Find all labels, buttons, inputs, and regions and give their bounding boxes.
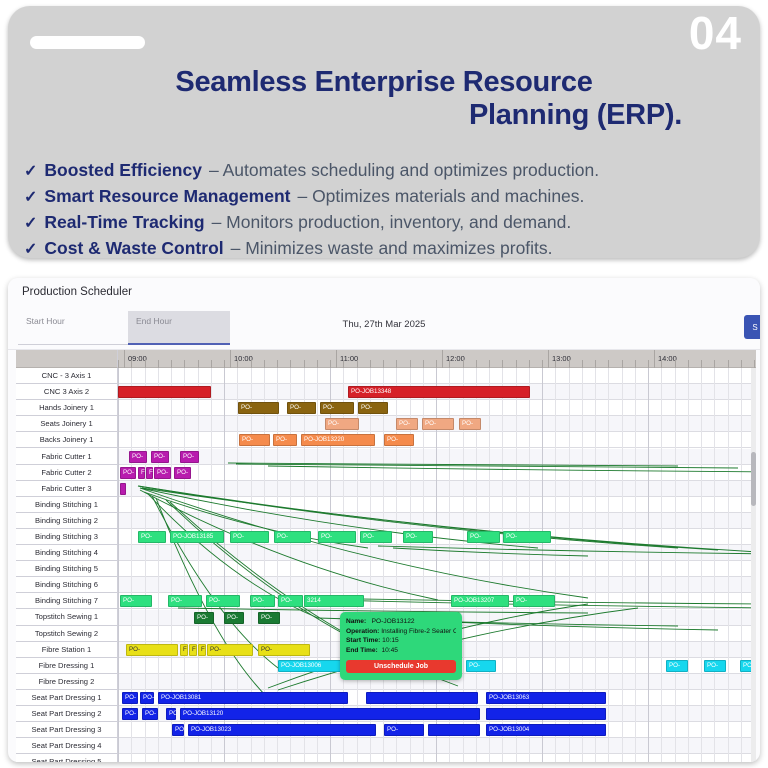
job-bar[interactable] — [120, 483, 126, 495]
tooltip-end-value: 10:45 — [381, 647, 398, 654]
resource-row-label: Topstitch Sewing 1 — [16, 609, 118, 625]
page-title: Seamless Enterprise Resource Planning (E… — [48, 66, 720, 133]
job-bar[interactable]: PO- — [503, 531, 551, 543]
job-bar[interactable]: PO- — [287, 402, 316, 414]
tooltip-operation-value: Installing Fibre-2 Seater C — [381, 628, 456, 635]
resource-row-label: Binding Stitching 5 — [16, 561, 118, 577]
bullet-text: – Automates scheduling and optimizes pro… — [209, 158, 599, 183]
job-bar[interactable]: PO- — [120, 467, 136, 479]
schedule-date-label: Thu, 27th Mar 2025 — [8, 319, 760, 330]
job-bar[interactable]: PO- — [194, 612, 214, 624]
job-bar[interactable]: PO- — [358, 402, 388, 414]
resource-row-label: Fabric Cutter 2 — [16, 465, 118, 481]
time-axis-header: 09:0010:0011:0012:0013:0014:004 — [118, 350, 756, 368]
resource-row-label: Fabric Cutter 1 — [16, 448, 118, 464]
production-scheduler-window: Production Scheduler Start Hour End Hour… — [8, 278, 760, 762]
job-bar[interactable]: PO- — [666, 660, 688, 672]
slide-root: 04 Seamless Enterprise Resource Planning… — [0, 0, 768, 768]
list-item: ✓ Real-Time Tracking – Monitors producti… — [24, 210, 760, 236]
list-item: ✓ Boosted Efficiency – Automates schedul… — [24, 158, 760, 184]
job-bar[interactable]: PO- — [142, 708, 158, 720]
job-bar[interactable]: PO- — [122, 692, 138, 704]
job-bar[interactable]: PO- — [273, 434, 297, 446]
job-bar[interactable]: PO- — [396, 418, 418, 430]
decorative-pill — [30, 36, 145, 49]
tooltip-start-value: 10:15 — [382, 637, 399, 644]
job-bar[interactable] — [118, 386, 211, 398]
resource-row-label: Topstitch Sewing 2 — [16, 626, 118, 642]
job-bar[interactable]: PO- — [230, 531, 269, 543]
resource-row-label: Binding Stitching 3 — [16, 529, 118, 545]
gantt-chart: CNC - 3 Axis 1CNC 3 Axis 2Hands Joinery … — [16, 350, 760, 762]
job-bar[interactable]: F — [189, 644, 197, 656]
job-bar[interactable]: PO — [172, 724, 184, 736]
resource-column-header — [16, 350, 118, 368]
job-bar[interactable]: PO-JOB13348 — [348, 386, 530, 398]
job-bar[interactable]: PO-JOB13081 — [158, 692, 348, 704]
scrollbar-thumb[interactable] — [751, 452, 756, 506]
promo-card: 04 Seamless Enterprise Resource Planning… — [8, 6, 760, 258]
resource-row-label: Seat Part Dressing 1 — [16, 690, 118, 706]
job-bar[interactable]: PO- — [151, 451, 169, 463]
job-bar[interactable]: PO- — [239, 434, 270, 446]
bullet-heading: Real-Time Tracking — [44, 210, 204, 235]
title-line-2: Planning (ERP). — [48, 99, 720, 132]
job-bar[interactable]: PO- — [403, 531, 433, 543]
job-bar[interactable]: PO- — [422, 418, 454, 430]
resource-row-label: Binding Stitching 7 — [16, 593, 118, 609]
resource-row-label: Hands Joinery 1 — [16, 400, 118, 416]
job-bar[interactable]: PO- — [466, 660, 496, 672]
gantt-timeline[interactable]: 09:0010:0011:0012:0013:0014:004 PO-JOB13… — [118, 350, 756, 762]
job-bar[interactable]: PO- — [238, 402, 279, 414]
job-bar[interactable]: F — [138, 467, 145, 479]
resource-row-label: Binding Stitching 4 — [16, 545, 118, 561]
resource-row-label: Binding Stitching 6 — [16, 577, 118, 593]
job-bar[interactable]: F — [146, 467, 153, 479]
job-bar[interactable]: PO- — [154, 467, 171, 479]
job-bar[interactable]: PO- — [174, 467, 191, 479]
list-item: ✓ Smart Resource Management – Optimizes … — [24, 184, 760, 210]
resource-row-label: Fibre Dressing 1 — [16, 658, 118, 674]
job-bar[interactable]: PO- — [122, 708, 138, 720]
job-bar[interactable]: PO-JOB13120 — [180, 708, 480, 720]
slide-number: 04 — [689, 10, 742, 56]
job-bar[interactable]: PO- — [129, 451, 147, 463]
resource-row-label: Fibre Station 1 — [16, 642, 118, 658]
list-item: ✓ Cost & Waste Control – Minimizes waste… — [24, 236, 760, 258]
resource-row-label: Binding Stitching 2 — [16, 513, 118, 529]
job-bar[interactable]: PO- — [320, 402, 354, 414]
job-bar[interactable]: PO- — [168, 595, 202, 607]
vertical-scrollbar[interactable] — [751, 368, 756, 762]
job-bar[interactable]: PO-JOB13220 — [301, 434, 375, 446]
check-icon: ✓ — [24, 237, 37, 258]
job-bar[interactable]: PO-JOB13207 — [451, 595, 509, 607]
tooltip-operation-row: Operation: Installing Fibre-2 Seater C — [346, 627, 456, 637]
job-bar[interactable]: PO- — [384, 724, 424, 736]
check-icon: ✓ — [24, 159, 37, 184]
minor-tick-marks — [118, 360, 756, 368]
resource-row-label: Seat Part Dressing 3 — [16, 722, 118, 738]
scheduler-toolbar: Start Hour End Hour Thu, 27th Mar 2025 S — [8, 306, 760, 350]
tooltip-name-row: Name: PO-JOB13122 — [346, 617, 456, 627]
job-tooltip[interactable]: Name: PO-JOB13122 Operation: Installing … — [340, 612, 462, 680]
job-bar[interactable]: PO- — [207, 644, 253, 656]
check-icon: ✓ — [24, 211, 37, 236]
job-bar[interactable]: PO- — [318, 531, 356, 543]
job-bar[interactable]: PO- — [126, 644, 178, 656]
job-bar[interactable]: F — [180, 644, 188, 656]
job-bar[interactable]: PO- — [278, 595, 303, 607]
resource-row-label: Backs Joinery 1 — [16, 432, 118, 448]
job-bar[interactable]: PO- — [206, 595, 240, 607]
resource-row-label: Fabric Cutter 3 — [16, 481, 118, 497]
resource-row-label: Seat Part Dressing 5 — [16, 754, 118, 762]
job-bar[interactable] — [486, 708, 606, 720]
tooltip-start-label: Start Time: — [346, 637, 380, 644]
job-bar[interactable]: PO- — [180, 451, 199, 463]
job-bar[interactable]: PO- — [140, 692, 154, 704]
job-bar[interactable]: PO-JOB13004 — [486, 724, 606, 736]
job-bar[interactable]: PO- — [459, 418, 481, 430]
resource-row-label: CNC 3 Axis 2 — [16, 384, 118, 400]
tooltip-name-value: PO-JOB13122 — [372, 618, 415, 625]
feature-list: ✓ Boosted Efficiency – Automates schedul… — [24, 158, 760, 258]
job-bar[interactable]: PO- — [274, 531, 311, 543]
bullet-text: – Minimizes waste and maximizes profits. — [231, 236, 553, 258]
job-bar[interactable]: PO- — [250, 595, 275, 607]
title-line-1: Seamless Enterprise Resource — [175, 66, 592, 98]
job-bar[interactable]: PO- — [467, 531, 500, 543]
bullet-text: – Optimizes materials and machines. — [297, 184, 584, 209]
tooltip-operation-label: Operation: — [346, 628, 379, 635]
bullet-heading: Cost & Waste Control — [44, 236, 223, 258]
job-bar[interactable] — [428, 724, 480, 736]
job-bar[interactable]: PO- — [138, 531, 166, 543]
resource-row-label: Seats Joinery 1 — [16, 416, 118, 432]
resource-row-label: CNC - 3 Axis 1 — [16, 368, 118, 384]
job-bar[interactable]: PO- — [325, 418, 359, 430]
job-bar[interactable]: PO- — [258, 612, 280, 624]
tooltip-name-label: Name: — [346, 618, 366, 625]
job-bar[interactable]: PO- — [384, 434, 414, 446]
job-bar[interactable]: PO- — [513, 595, 555, 607]
job-bar[interactable]: 3214 — [304, 595, 364, 607]
resource-label-column: CNC - 3 Axis 1CNC 3 Axis 2Hands Joinery … — [16, 350, 118, 762]
job-bar[interactable]: PO-JOB13185 — [170, 531, 224, 543]
job-bar[interactable]: PO- — [704, 660, 726, 672]
job-bar[interactable]: PO- — [360, 531, 392, 543]
check-icon: ✓ — [24, 185, 37, 210]
tooltip-start-row: Start Time: 10:15 — [346, 636, 456, 646]
resource-row-label: Seat Part Dressing 4 — [16, 738, 118, 754]
job-bar[interactable]: PO-JOB13023 — [188, 724, 376, 736]
resource-row-label: Fibre Dressing 2 — [16, 674, 118, 690]
unschedule-job-button[interactable]: Unschedule Job — [346, 660, 456, 673]
job-bar[interactable]: PO — [166, 708, 176, 720]
app-title: Production Scheduler — [8, 278, 760, 306]
job-bar[interactable]: PO- — [258, 644, 310, 656]
job-bar[interactable] — [366, 692, 478, 704]
job-bar[interactable]: F — [198, 644, 206, 656]
bullet-heading: Smart Resource Management — [44, 184, 290, 209]
job-bar[interactable]: PO-JOB13063 — [486, 692, 606, 704]
schedule-action-button[interactable]: S — [744, 315, 760, 339]
resource-row-label: Binding Stitching 1 — [16, 497, 118, 513]
bullet-text: – Monitors production, inventory, and de… — [212, 210, 572, 235]
job-bar[interactable]: PO- — [224, 612, 244, 624]
job-bar[interactable]: PO- — [120, 595, 152, 607]
tooltip-end-label: End Time: — [346, 647, 378, 654]
tooltip-end-row: End Time: 10:45 — [346, 646, 456, 656]
bullet-heading: Boosted Efficiency — [44, 158, 202, 183]
resource-row-label: Seat Part Dressing 2 — [16, 706, 118, 722]
